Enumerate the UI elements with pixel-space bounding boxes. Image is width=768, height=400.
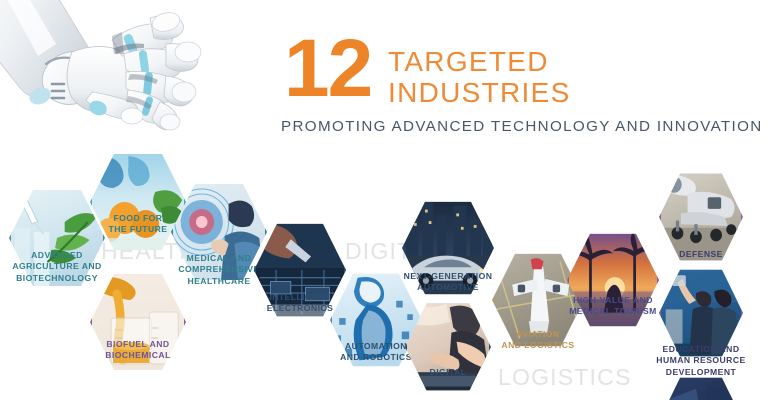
industry-label-line: DEVELOPMENT [656,367,745,378]
industry-label-medical-and-comprehensive-healthcare: MEDICAL ANDCOMPREHENSIVEHEALTHCARE [178,253,259,287]
industry-label-line: ELECTRONICS [267,303,334,314]
infographic-canvas: 12 TARGETED INDUSTRIES PROMOTING ADVANCE… [0,0,768,400]
group-watermark-logistics: LOGISTICS [498,364,632,391]
headline-number: 12 [284,28,371,110]
industry-label-line: INTELLIGENT [267,292,334,303]
industry-label-food-for-the-future: FOOD FORTHE FUTURE [109,213,168,236]
industry-label-next-generation-automotive: NEXT-GENERATIONAUTOMOTIVE [404,271,493,294]
dark-blue-technology-photo [659,376,743,400]
industry-label-high-value-and-medical-tourism: HIGH-VALUE ANDMEDICAL TOURISM [569,295,657,318]
industry-label-automation-and-robotics: AUTOMATIONAND ROBOTICS [340,341,412,364]
industry-label-line: THE FUTURE [109,224,168,235]
headline-line-1: TARGETED [388,46,571,77]
industry-label-line: COMPREHENSIVE [178,264,259,275]
headline-text: TARGETED INDUSTRIES [388,46,571,108]
industry-label-aviation-and-logistics: AVIATIONAND LOGISTICS [501,329,574,352]
industry-label-biofuel-and-biochemical: BIOFUEL ANDBIOCHEMICAL [105,339,171,362]
industry-label-defense: DEFENSE [679,249,723,260]
industry-label-line: DEFENSE [679,249,723,260]
industry-label-line: DIGITAL [430,367,467,378]
industry-label-line: AGRICULTURE AND [12,261,101,272]
industry-label-line: AND LOGISTICS [501,340,574,351]
industry-label-line: AUTOMATION [340,341,412,352]
industry-label-line: BIOTECHNOLOGY [12,273,101,284]
industry-label-line: AVIATION [501,329,574,340]
industry-label-advanced-agriculture-and-biotechnology: ADVANCEDAGRICULTURE ANDBIOTECHNOLOGY [12,250,101,284]
industry-label-line: ADVANCED [12,250,101,261]
robotic-hand-image [0,0,224,157]
industry-label-digital: DIGITAL [430,367,467,378]
page-title: 12 TARGETED INDUSTRIES [284,32,724,112]
industry-label-line: HUMAN RESOURCE [656,355,745,366]
industry-label-line: HEALTHCARE [178,276,259,287]
industry-label-line: MEDICAL TOURISM [569,306,657,317]
industry-label-line: MEDICAL AND [178,253,259,264]
page-subtitle: PROMOTING ADVANCED TECHNOLOGY AND INNOVA… [281,118,763,135]
industry-label-line: HIGH-VALUE AND [569,295,657,306]
industry-label-education-and-human-resource-development: EDUCATION ANDHUMAN RESOURCEDEVELOPMENT [656,344,745,378]
industry-label-line: FOOD FOR [109,213,168,224]
industry-label-line: AND ROBOTICS [340,352,412,363]
industry-label-line: EDUCATION AND [656,344,745,355]
industry-label-line: BIOCHEMICAL [105,350,171,361]
industry-label-line: BIOFUEL AND [105,339,171,350]
industry-label-line: NEXT-GENERATION [404,271,493,282]
industry-label-intelligent-electronics: INTELLIGENTELECTRONICS [267,292,334,315]
headline-line-2: INDUSTRIES [388,77,571,108]
industry-label-line: AUTOMOTIVE [404,282,493,293]
